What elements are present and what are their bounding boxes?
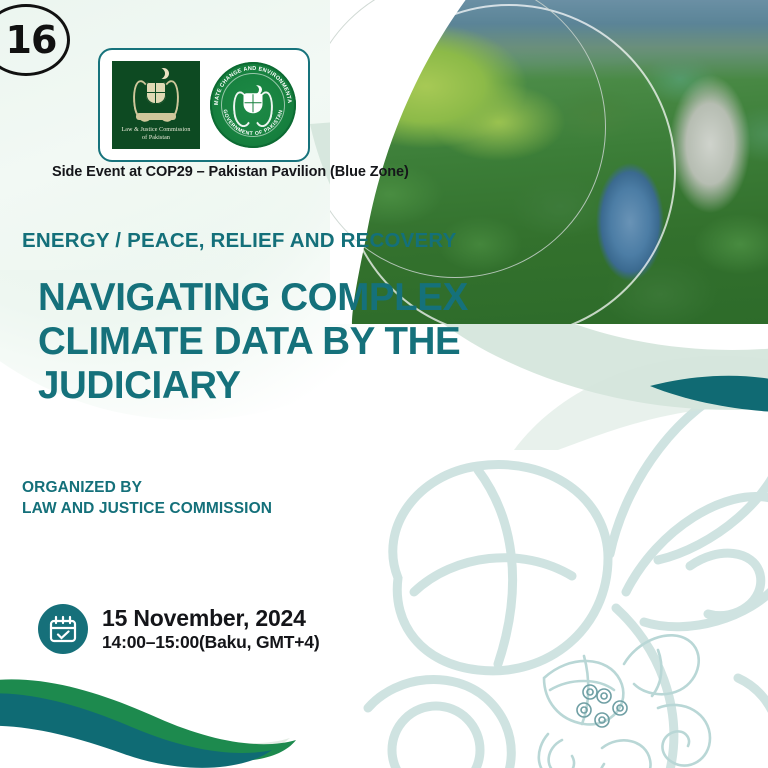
date-time-text: 15 November, 2024 14:00–15:00(Baku, GMT+… (102, 605, 319, 654)
teal-accent-sliver (648, 350, 768, 430)
badge-number: 16 (0, 4, 70, 76)
event-poster: 16 Law & Justice Commission of Pakistan … (0, 0, 768, 768)
page-title: NAVIGATING COMPLEX CLIMATE DATA BY THE J… (38, 276, 538, 408)
floral-pattern-decoration (358, 378, 768, 768)
law-justice-commission-logo: Law & Justice Commission of Pakistan (112, 61, 200, 149)
emblem-shield (146, 82, 166, 104)
event-date: 15 November, 2024 (102, 605, 319, 632)
emblem-scroll (136, 113, 176, 120)
side-event-line: Side Event at COP29 – Pakistan Pavilion … (52, 164, 409, 180)
organizer-block: ORGANIZED BY LAW AND JUSTICE COMMISSION (22, 478, 272, 519)
date-time-row: 15 November, 2024 14:00–15:00(Baku, GMT+… (38, 604, 319, 654)
logo-caption-line2: of Pakistan (138, 134, 174, 142)
ministry-climate-change-seal: MINISTRY OF CLIMATE CHANGE AND ENVIRONME… (210, 62, 296, 148)
seal-shield (244, 93, 263, 113)
organized-by-label: ORGANIZED BY (22, 478, 272, 499)
calendar-check-icon (38, 604, 88, 654)
pakistan-emblem-icon (133, 76, 179, 120)
event-time: 14:00–15:00(Baku, GMT+4) (102, 632, 319, 654)
session-number-badge: 16 (0, 4, 70, 76)
seal-emblem-icon (234, 85, 272, 123)
bottom-wave-decoration (0, 652, 330, 768)
logo-container: Law & Justice Commission of Pakistan MIN… (98, 48, 310, 162)
organizer-name: LAW AND JUSTICE COMMISSION (22, 499, 272, 520)
theme-kicker: ENERGY / PEACE, RELIEF AND RECOVERY (22, 229, 457, 253)
logo-caption-line1: Law & Justice Commission (118, 126, 195, 134)
